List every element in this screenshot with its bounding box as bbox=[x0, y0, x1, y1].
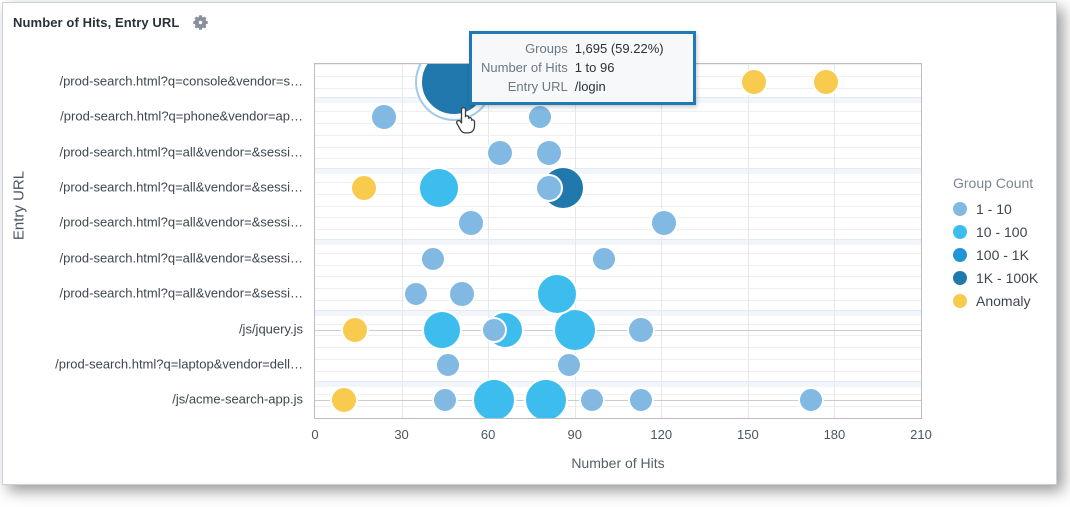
y-tick-label: /prod-search.html?q=console&vendor=s… bbox=[59, 73, 303, 88]
legend-swatch-icon bbox=[953, 248, 967, 262]
y-tick-label: /prod-search.html?q=all&vendor=&sessi… bbox=[59, 144, 303, 159]
data-bubble[interactable] bbox=[524, 378, 568, 419]
tooltip-value: /login bbox=[575, 77, 683, 96]
page-title: Number of Hits, Entry URL bbox=[13, 15, 179, 30]
data-bubble[interactable] bbox=[457, 209, 485, 237]
legend-item[interactable]: Anomaly bbox=[953, 293, 1038, 309]
row-baseline bbox=[315, 400, 921, 401]
data-bubble[interactable] bbox=[627, 316, 655, 344]
data-bubble[interactable] bbox=[536, 273, 578, 315]
gridline-horizontal bbox=[315, 194, 921, 195]
x-axis-ticks: 0306090120150180210 bbox=[314, 427, 922, 447]
data-bubble[interactable] bbox=[650, 209, 678, 237]
gridline-horizontal bbox=[315, 229, 921, 230]
row-baseline bbox=[315, 330, 921, 331]
data-bubble[interactable] bbox=[812, 68, 840, 96]
gridline-band bbox=[315, 381, 921, 387]
gridline-vertical bbox=[834, 64, 835, 418]
data-bubble[interactable] bbox=[472, 378, 516, 419]
data-bubble[interactable] bbox=[330, 386, 358, 414]
gridline-horizontal bbox=[315, 371, 921, 372]
x-axis-title: Number of Hits bbox=[314, 455, 922, 471]
y-tick-label: /prod-search.html?q=laptop&vendor=dell… bbox=[55, 356, 303, 371]
tooltip-key: Entry URL bbox=[481, 77, 575, 96]
data-bubble[interactable] bbox=[420, 246, 446, 272]
legend-items: 1 - 1010 - 100100 - 1K1K - 100KAnomaly bbox=[953, 201, 1038, 309]
legend-item[interactable]: 1 - 10 bbox=[953, 201, 1038, 217]
tooltip: Groups1,695 (59.22%)Number of Hits1 to 9… bbox=[469, 31, 696, 105]
x-tick-label: 60 bbox=[481, 427, 495, 442]
y-tick-label: /prod-search.html?q=all&vendor=&sessi… bbox=[59, 179, 303, 194]
tooltip-row: Number of Hits1 to 96 bbox=[481, 58, 683, 77]
data-bubble[interactable] bbox=[350, 174, 378, 202]
panel-header: Number of Hits, Entry URL bbox=[13, 13, 210, 32]
gridline-band bbox=[315, 310, 921, 316]
legend: Group Count 1 - 1010 - 100100 - 1K1K - 1… bbox=[953, 175, 1038, 316]
data-bubble[interactable] bbox=[486, 139, 514, 167]
x-tick-label: 30 bbox=[394, 427, 408, 442]
legend-swatch-icon bbox=[953, 294, 967, 308]
data-bubble[interactable] bbox=[481, 317, 507, 343]
gridline-horizontal bbox=[315, 253, 921, 254]
data-bubble[interactable] bbox=[370, 103, 398, 131]
data-bubble[interactable] bbox=[403, 281, 429, 307]
gridline-band bbox=[315, 239, 921, 245]
gridline-horizontal bbox=[315, 359, 921, 360]
tooltip-row: Entry URL/login bbox=[481, 77, 683, 96]
x-tick-label: 210 bbox=[910, 427, 932, 442]
gridline-horizontal bbox=[315, 123, 921, 124]
y-tick-label: /prod-search.html?q=all&vendor=&sessi… bbox=[59, 215, 303, 230]
tooltip-row: Groups1,695 (59.22%) bbox=[481, 39, 683, 58]
legend-item[interactable]: 100 - 1K bbox=[953, 247, 1038, 263]
data-bubble[interactable] bbox=[535, 139, 563, 167]
gridline-horizontal bbox=[315, 135, 921, 136]
y-tick-label: /js/acme-search-app.js bbox=[172, 392, 303, 407]
data-bubble[interactable] bbox=[579, 387, 605, 413]
gear-icon[interactable] bbox=[191, 13, 210, 32]
y-tick-label: /prod-search.html?q=phone&vendor=ap… bbox=[60, 109, 303, 124]
gridline-vertical bbox=[488, 64, 489, 418]
plot-area[interactable] bbox=[314, 63, 922, 419]
chart-panel: Number of Hits, Entry URL Entry URL /pro… bbox=[2, 2, 1057, 485]
gridline-horizontal bbox=[315, 347, 921, 348]
data-bubble[interactable] bbox=[556, 352, 582, 378]
data-bubble[interactable] bbox=[432, 387, 458, 413]
gridline-horizontal bbox=[315, 217, 921, 218]
y-axis-ticks: /prod-search.html?q=console&vendor=s…/pr… bbox=[3, 63, 308, 419]
data-bubble[interactable] bbox=[448, 280, 476, 308]
gridline-horizontal bbox=[315, 394, 921, 395]
legend-item-label: 10 - 100 bbox=[976, 224, 1027, 240]
gridline-horizontal bbox=[315, 406, 921, 407]
y-tick-label: /prod-search.html?q=all&vendor=&sessi… bbox=[59, 250, 303, 265]
tooltip-key: Groups bbox=[481, 39, 575, 58]
data-bubble[interactable] bbox=[527, 104, 553, 130]
legend-swatch-icon bbox=[953, 271, 967, 285]
hand-cursor-icon bbox=[453, 105, 479, 140]
data-bubble[interactable] bbox=[591, 246, 617, 272]
data-bubble[interactable] bbox=[418, 167, 460, 209]
x-tick-label: 180 bbox=[824, 427, 846, 442]
data-bubble[interactable] bbox=[740, 68, 768, 96]
gridline-horizontal bbox=[315, 265, 921, 266]
gridline-vertical bbox=[402, 64, 403, 418]
data-bubble[interactable] bbox=[435, 352, 461, 378]
data-bubble[interactable] bbox=[628, 387, 654, 413]
gridline-horizontal bbox=[315, 111, 921, 112]
tooltip-key: Number of Hits bbox=[481, 58, 575, 77]
data-bubble[interactable] bbox=[422, 310, 462, 350]
data-bubble[interactable] bbox=[341, 316, 369, 344]
gridline-horizontal bbox=[315, 158, 921, 159]
tooltip-value: 1,695 (59.22%) bbox=[575, 39, 683, 58]
gridline-horizontal bbox=[315, 276, 921, 277]
gridline-vertical bbox=[748, 64, 749, 418]
gridline-horizontal bbox=[315, 335, 921, 336]
legend-item[interactable]: 1K - 100K bbox=[953, 270, 1038, 286]
y-tick-label: /prod-search.html?q=all&vendor=&sessi… bbox=[59, 286, 303, 301]
legend-item-label: 1 - 10 bbox=[976, 201, 1012, 217]
gridline-horizontal bbox=[315, 147, 921, 148]
legend-item[interactable]: 10 - 100 bbox=[953, 224, 1038, 240]
legend-swatch-icon bbox=[953, 225, 967, 239]
screenshot-root: Number of Hits, Entry URL Entry URL /pro… bbox=[0, 0, 1070, 507]
x-tick-label: 150 bbox=[737, 427, 759, 442]
gridline-vertical bbox=[661, 64, 662, 418]
gridline-band bbox=[315, 168, 921, 174]
gridline-horizontal bbox=[315, 182, 921, 183]
legend-item-label: 1K - 100K bbox=[976, 270, 1038, 286]
x-tick-label: 120 bbox=[650, 427, 672, 442]
legend-title: Group Count bbox=[953, 175, 1038, 191]
y-tick-label: /js/jquery.js bbox=[239, 321, 303, 336]
tooltip-value: 1 to 96 bbox=[575, 58, 683, 77]
data-bubble[interactable] bbox=[798, 387, 824, 413]
legend-item-label: 100 - 1K bbox=[976, 247, 1029, 263]
x-tick-label: 90 bbox=[567, 427, 581, 442]
gridline-horizontal bbox=[315, 206, 921, 207]
legend-swatch-icon bbox=[953, 202, 967, 216]
gridline-horizontal bbox=[315, 324, 921, 325]
x-tick-label: 0 bbox=[311, 427, 318, 442]
legend-item-label: Anomaly bbox=[976, 293, 1030, 309]
data-bubble[interactable] bbox=[535, 174, 563, 202]
